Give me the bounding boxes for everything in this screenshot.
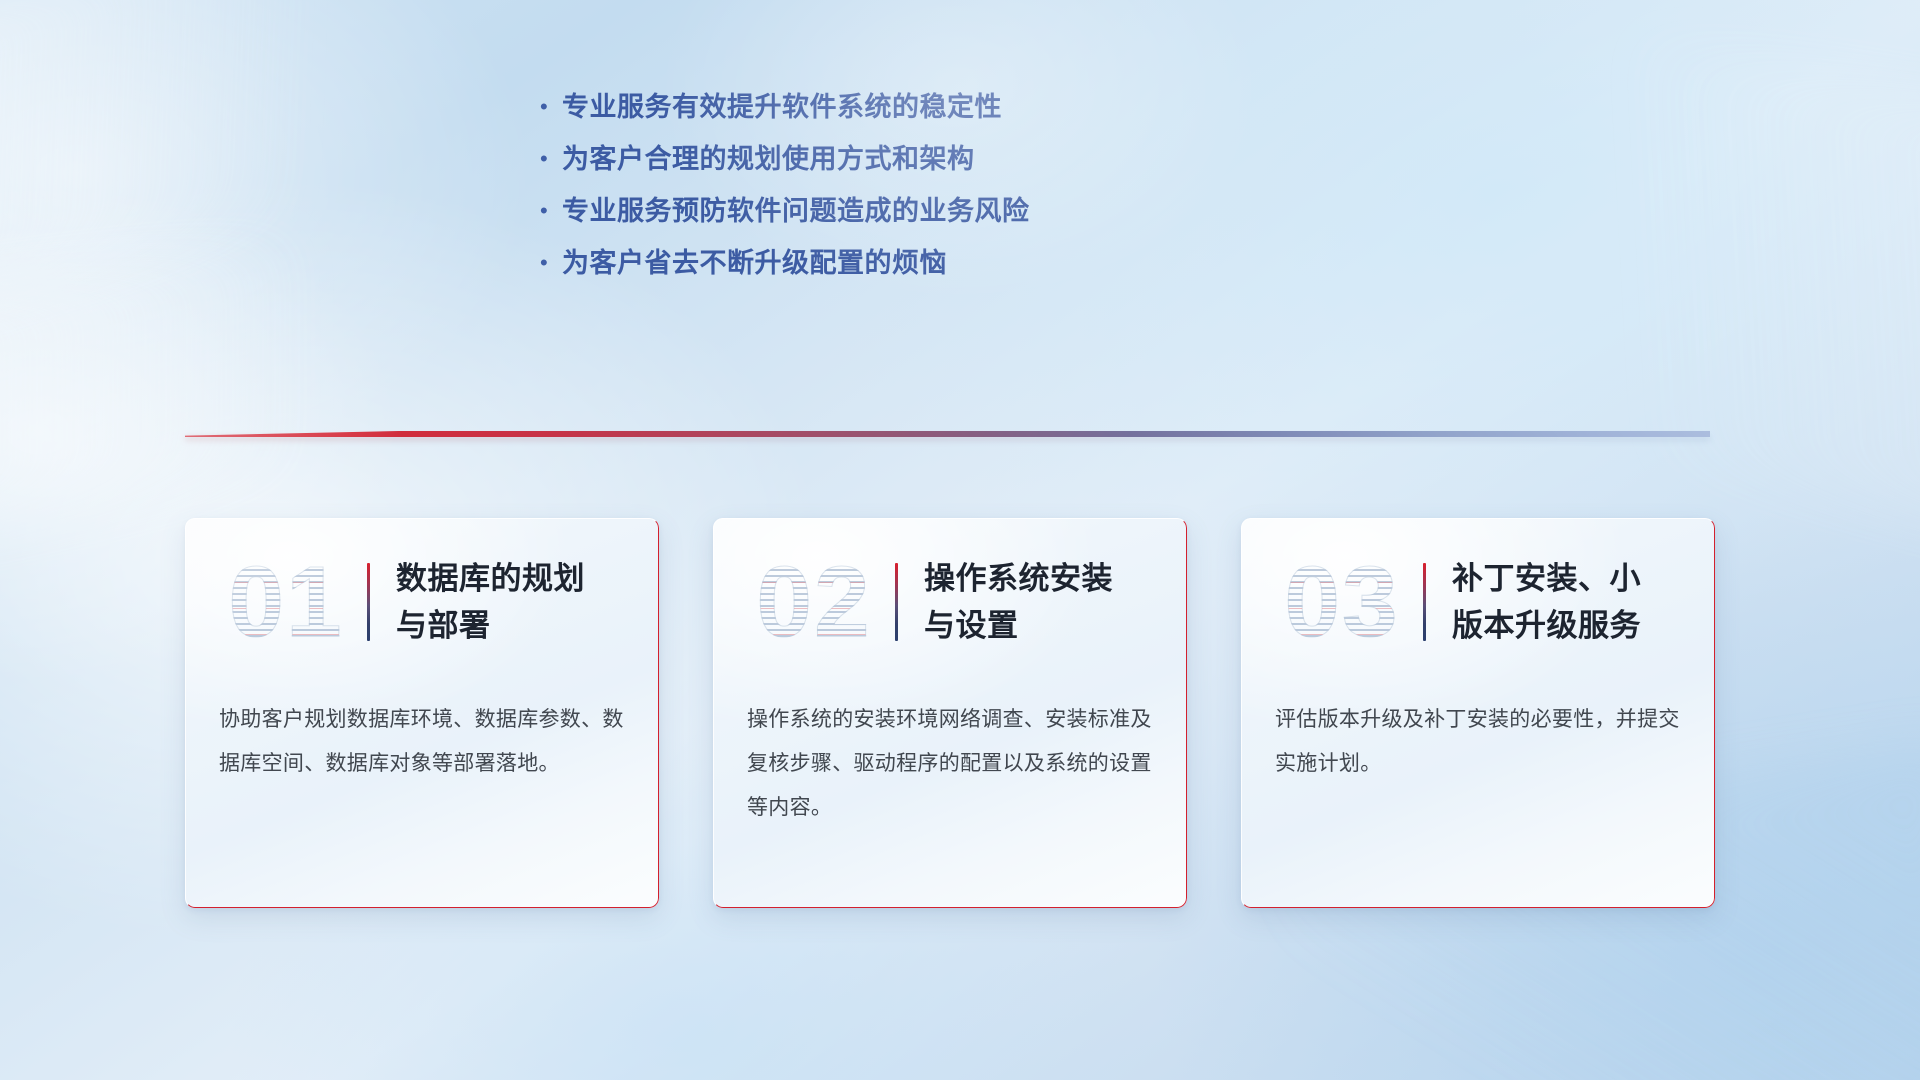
service-card[interactable]: 0303 补丁安装、小 版本升级服务 评估版本升级及补丁安装的必要性，并提交实施… (1241, 518, 1715, 908)
bullet-text: 为客户合理的规划使用方式和架构 (562, 140, 975, 178)
card-accent-bar (367, 563, 370, 641)
card-title: 数据库的规划 与部署 (396, 555, 585, 649)
bullet-text: 专业服务有效提升软件系统的稳定性 (562, 88, 1002, 126)
bullet-text: 为客户省去不断升级配置的烦恼 (562, 244, 947, 282)
card-description: 协助客户规划数据库环境、数据库参数、数据库空间、数据库对象等部署落地。 (185, 668, 659, 786)
bullet-dot-icon: • (540, 88, 562, 126)
bullet-text: 专业服务预防软件问题造成的业务风险 (562, 192, 1030, 230)
slide-canvas: • 专业服务有效提升软件系统的稳定性 • 为客户合理的规划使用方式和架构 • 专… (0, 0, 1920, 1080)
card-header: 0101 数据库的规划 与部署 (185, 518, 659, 668)
list-item: • 专业服务有效提升软件系统的稳定性 (540, 88, 1320, 140)
service-card-group: 0101 数据库的规划 与部署 协助客户规划数据库环境、数据库参数、数据库空间、… (185, 518, 1715, 908)
card-header: 0303 补丁安装、小 版本升级服务 (1241, 518, 1715, 668)
bullet-dot-icon: • (540, 192, 562, 230)
card-number-overlay: 03 (1267, 543, 1417, 661)
bullet-dot-icon: • (540, 140, 562, 178)
card-accent-bar (895, 563, 898, 641)
background-light-streak (0, 205, 477, 535)
service-card[interactable]: 0101 数据库的规划 与部署 协助客户规划数据库环境、数据库参数、数据库空间、… (185, 518, 659, 908)
background-light-streak (0, 0, 509, 320)
card-number: 0101 (211, 543, 361, 661)
card-accent-bar (1423, 563, 1426, 641)
card-header: 0202 操作系统安装 与设置 (713, 518, 1187, 668)
card-number-overlay: 02 (739, 543, 889, 661)
card-title: 补丁安装、小 版本升级服务 (1452, 555, 1641, 649)
card-number: 0202 (739, 543, 889, 661)
background-light-streak (1442, 6, 1920, 533)
card-description: 操作系统的安装环境网络调查、安装标准及复核步骤、驱动程序的配置以及系统的设置等内… (713, 668, 1187, 830)
card-title: 操作系统安装 与设置 (924, 555, 1113, 649)
card-number: 0303 (1267, 543, 1417, 661)
list-item: • 为客户省去不断升级配置的烦恼 (540, 244, 1320, 296)
card-description: 评估版本升级及补丁安装的必要性，并提交实施计划。 (1241, 668, 1715, 786)
card-number-overlay: 01 (211, 543, 361, 661)
benefits-bullet-list: • 专业服务有效提升软件系统的稳定性 • 为客户合理的规划使用方式和架构 • 专… (540, 88, 1320, 296)
list-item: • 为客户合理的规划使用方式和架构 (540, 140, 1320, 192)
bullet-dot-icon: • (540, 244, 562, 282)
section-divider (185, 424, 1710, 442)
divider-line (185, 431, 1710, 437)
list-item: • 专业服务预防软件问题造成的业务风险 (540, 192, 1320, 244)
service-card[interactable]: 0202 操作系统安装 与设置 操作系统的安装环境网络调查、安装标准及复核步骤、… (713, 518, 1187, 908)
